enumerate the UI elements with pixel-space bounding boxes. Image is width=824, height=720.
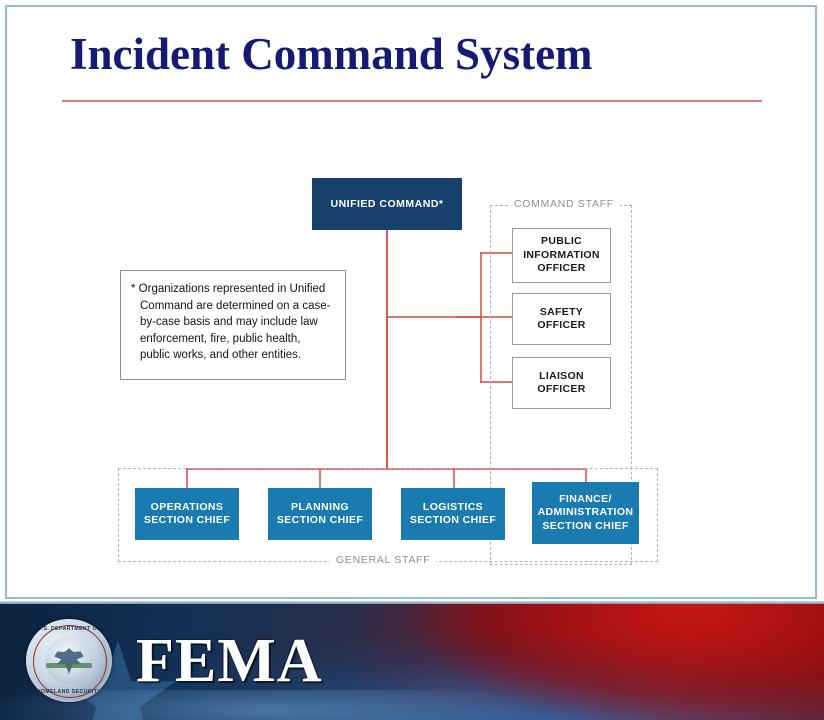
finance-line-2: ADMINISTRATION (538, 506, 634, 520)
liaison-line-1: LIAISON (537, 370, 585, 384)
dhs-seal-icon: U.S. DEPARTMENT OF HOMELAND SECURITY (26, 619, 112, 702)
box-planning-section-chief[interactable]: PLANNING SECTION CHIEF (268, 488, 372, 540)
liaison-line-2: OFFICER (537, 383, 585, 397)
seal-band (46, 663, 92, 668)
finance-line-1: FINANCE/ (538, 493, 634, 507)
seal-top-text: U.S. DEPARTMENT OF (26, 626, 112, 632)
operations-line-1: OPERATIONS (144, 501, 230, 515)
title-divider (62, 100, 762, 102)
seal-bottom-text: HOMELAND SECURITY (26, 689, 112, 695)
box-public-information-officer[interactable]: PUBLIC INFORMATION OFFICER (512, 228, 611, 283)
pio-line-3: OFFICER (523, 262, 600, 276)
box-unified-command[interactable]: UNIFIED COMMAND* (312, 178, 462, 230)
box-finance-administration-section-chief[interactable]: FINANCE/ ADMINISTRATION SECTION CHIEF (532, 482, 639, 544)
unified-command-note-box: * Organizations represented in Unified C… (120, 270, 346, 380)
general-staff-group-label: GENERAL STAFF (330, 554, 436, 566)
unified-command-note-text: * Organizations represented in Unified C… (131, 281, 333, 364)
safety-line-1: SAFETY (537, 306, 585, 320)
connector-trunk-lower (386, 316, 388, 468)
box-liaison-officer[interactable]: LIAISON OFFICER (512, 357, 611, 409)
footer-top-highlight (0, 601, 824, 604)
planning-line-1: PLANNING (277, 501, 363, 515)
slide-root: Incident Command System COMMAND STAFF PU… (0, 0, 824, 720)
box-logistics-section-chief[interactable]: LOGISTICS SECTION CHIEF (401, 488, 505, 540)
logistics-line-2: SECTION CHIEF (410, 514, 496, 528)
logistics-line-1: LOGISTICS (410, 501, 496, 515)
safety-line-2: OFFICER (537, 319, 585, 333)
ics-org-chart: COMMAND STAFF PUBLIC INFORMATION OFFICER… (0, 130, 812, 590)
fema-wordmark: FEMA (136, 627, 323, 695)
pio-line-2: INFORMATION (523, 249, 600, 263)
operations-line-2: SECTION CHIEF (144, 514, 230, 528)
unified-command-label: UNIFIED COMMAND* (331, 198, 444, 211)
planning-line-2: SECTION CHIEF (277, 514, 363, 528)
box-operations-section-chief[interactable]: OPERATIONS SECTION CHIEF (135, 488, 239, 540)
command-staff-group-label: COMMAND STAFF (508, 198, 620, 210)
pio-line-1: PUBLIC (523, 235, 600, 249)
box-safety-officer[interactable]: SAFETY OFFICER (512, 293, 611, 345)
finance-line-3: SECTION CHIEF (538, 520, 634, 534)
page-title: Incident Command System (70, 26, 593, 82)
